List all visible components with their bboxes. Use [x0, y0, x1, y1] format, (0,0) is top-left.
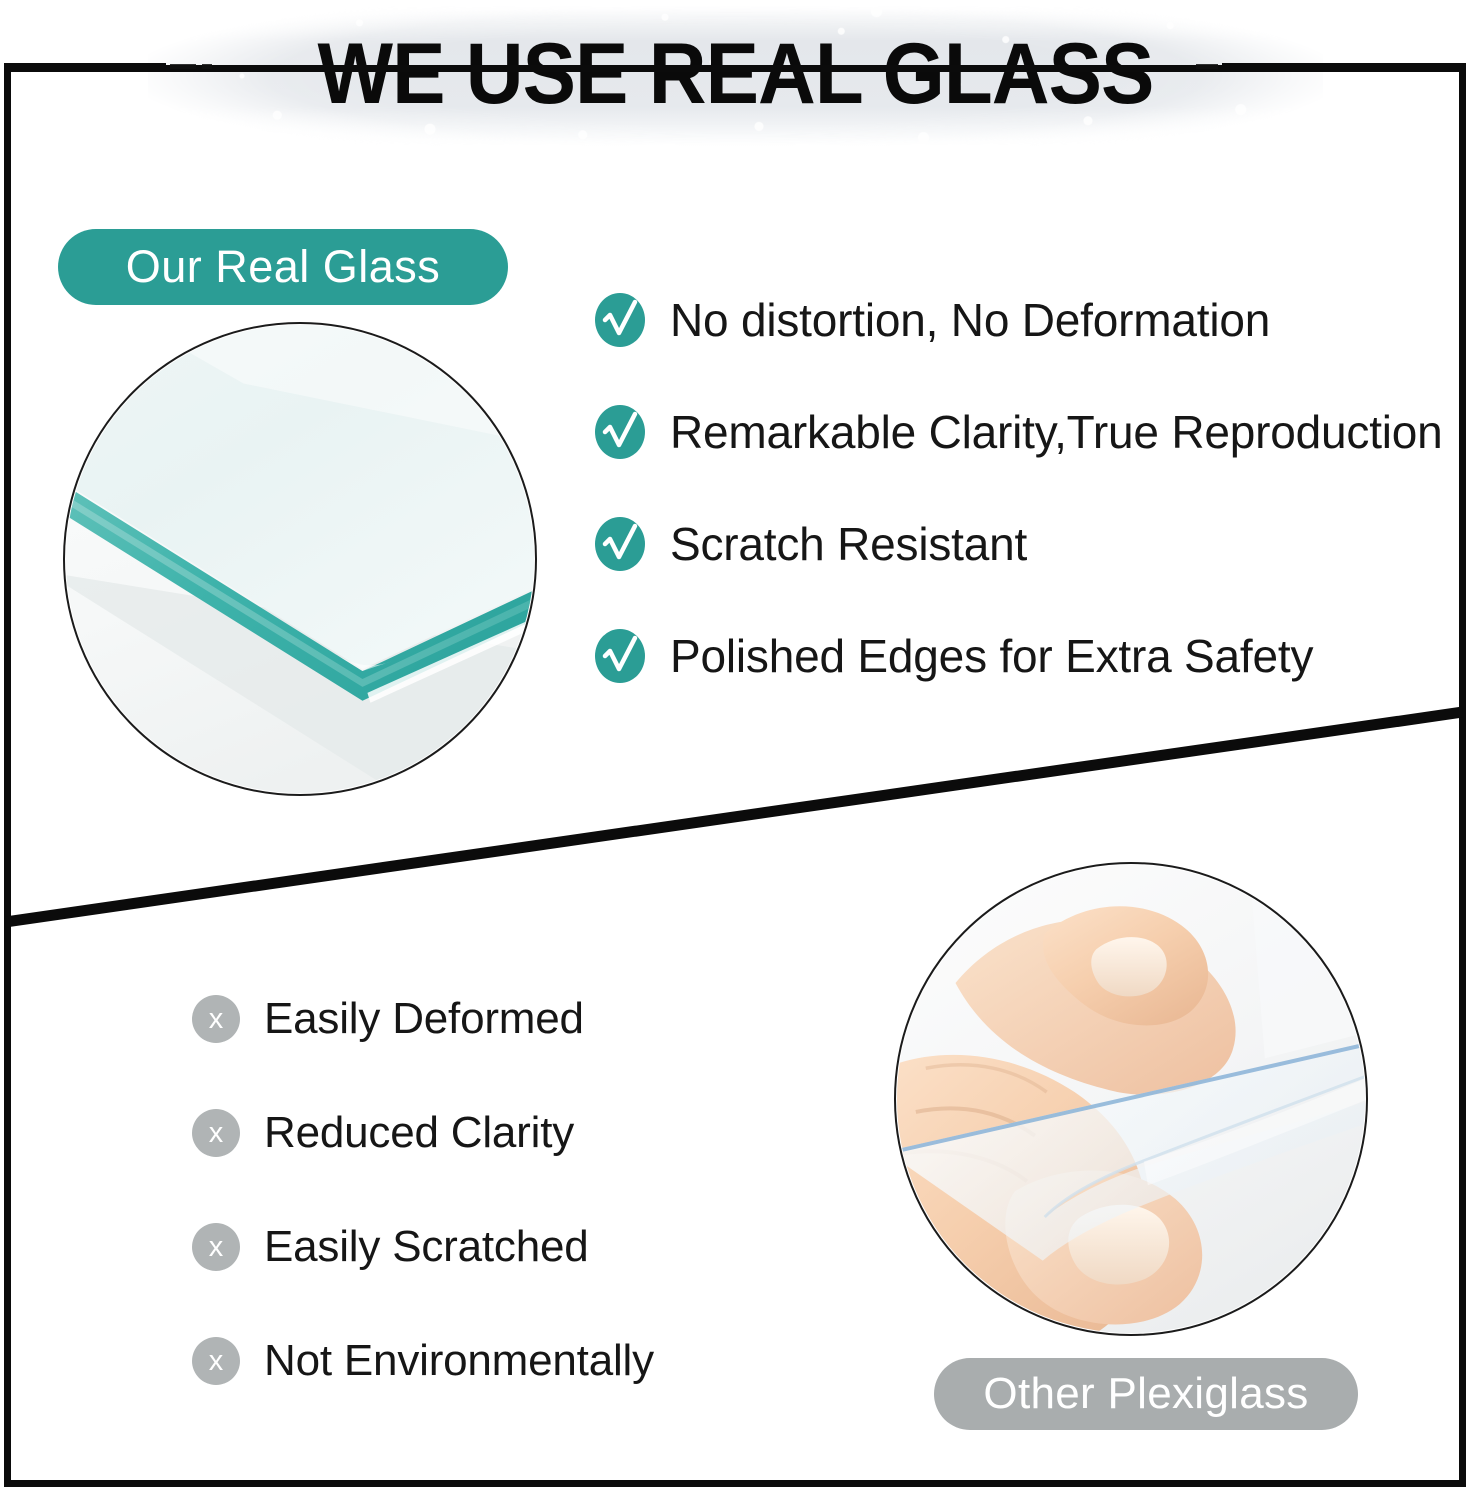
drawback-label: Reduced Clarity: [264, 1108, 574, 1158]
other-plexiglass-badge: Other Plexiglass: [934, 1358, 1358, 1430]
real-glass-corner-photo: [63, 322, 537, 796]
plexiglass-hand-bending-photo: [894, 862, 1368, 1336]
drawback-row: x Easily Scratched: [192, 1220, 892, 1274]
frame-dash-left-b: [202, 64, 212, 69]
drawback-label: Easily Deformed: [264, 994, 584, 1044]
x-icon: x: [192, 1223, 240, 1271]
check-icon: [594, 628, 646, 684]
frame-top-left-segment: [4, 63, 166, 70]
x-icon: x: [192, 995, 240, 1043]
check-icon: [594, 516, 646, 572]
x-icon: x: [192, 1337, 240, 1385]
drawback-label: Easily Scratched: [264, 1222, 589, 1272]
frame-dash-right-a: [1196, 64, 1218, 69]
advantage-row: Scratch Resistant: [594, 510, 1454, 578]
drawback-label: Not Environmentally: [264, 1336, 654, 1386]
advantage-label: Remarkable Clarity,True Reproduction: [670, 405, 1443, 459]
other-plexiglass-badge-label: Other Plexiglass: [983, 1369, 1308, 1419]
advantage-row: Polished Edges for Extra Safety: [594, 622, 1454, 690]
frame-top-right-segment: [1222, 63, 1466, 70]
drawbacks-list: x Easily Deformed x Reduced Clarity x Ea…: [192, 992, 892, 1448]
advantage-row: No distortion, No Deformation: [594, 286, 1454, 354]
our-real-glass-badge: Our Real Glass: [58, 229, 508, 305]
frame-dash-left-a: [170, 64, 196, 69]
advantage-label: No distortion, No Deformation: [670, 293, 1270, 347]
advantage-label: Polished Edges for Extra Safety: [670, 629, 1313, 683]
page-title: WE USE REAL GLASS: [189, 24, 1282, 124]
check-icon: [594, 404, 646, 460]
drawback-row: x Reduced Clarity: [192, 1106, 892, 1160]
drawback-row: x Easily Deformed: [192, 992, 892, 1046]
advantage-label: Scratch Resistant: [670, 517, 1027, 571]
advantage-row: Remarkable Clarity,True Reproduction: [594, 398, 1454, 466]
drawback-row: x Not Environmentally: [192, 1334, 892, 1388]
real-glass-illustration: [65, 324, 535, 794]
plexiglass-illustration: [896, 864, 1366, 1334]
our-real-glass-badge-label: Our Real Glass: [126, 241, 441, 293]
advantages-list: No distortion, No Deformation Remarkable…: [594, 286, 1454, 734]
check-icon: [594, 292, 646, 348]
x-icon: x: [192, 1109, 240, 1157]
